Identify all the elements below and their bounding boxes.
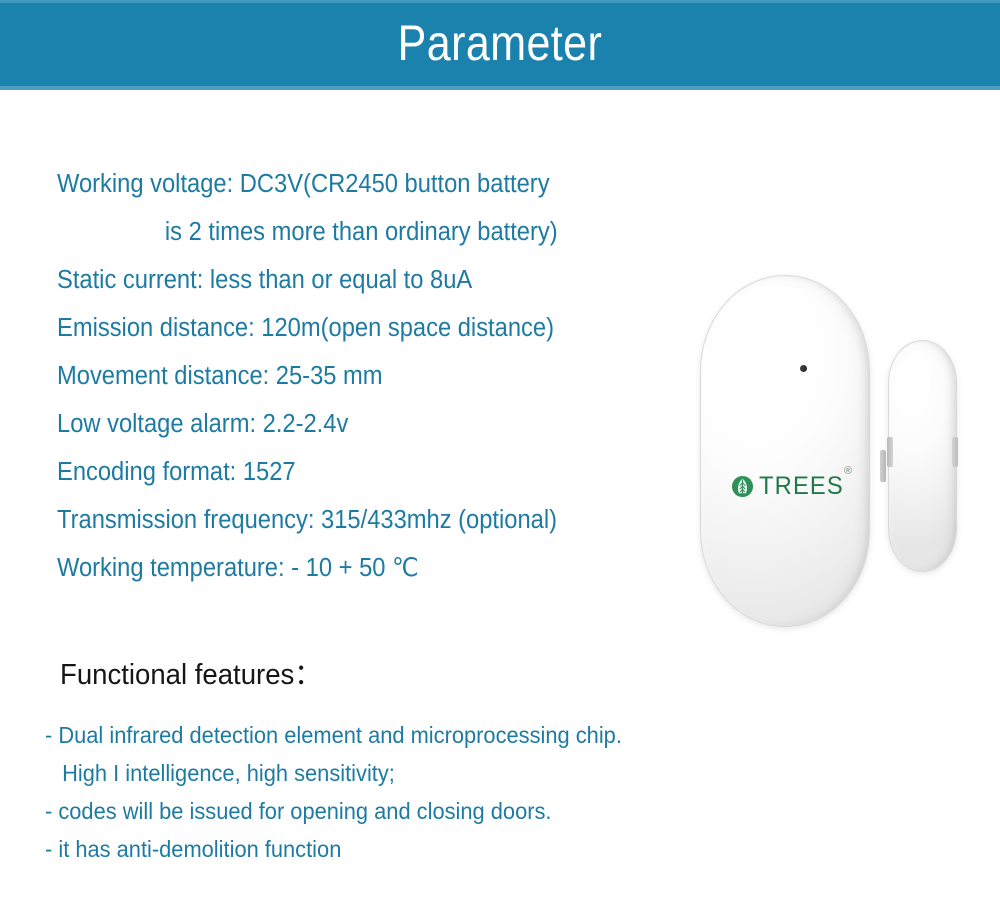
sensor-main-body: TREES ® bbox=[700, 275, 870, 627]
spec-line-working-voltage: Working voltage: DC3V(CR2450 button batt… bbox=[57, 160, 624, 208]
feature-line-dual-infrared: - Dual infrared detection element and mi… bbox=[45, 716, 767, 754]
tree-emblem-icon bbox=[731, 475, 754, 498]
product-image: TREES ® bbox=[686, 262, 986, 642]
brand-name-text: TREES bbox=[759, 474, 844, 499]
spec-line-low-voltage-alarm: Low voltage alarm: 2.2-2.4v bbox=[57, 400, 624, 448]
page-title: Parameter bbox=[398, 18, 603, 68]
feature-line-high-intelligence: High I intelligence, high sensitivity; bbox=[45, 754, 767, 792]
spec-line-transmission-frequency: Transmission frequency: 315/433mhz (opti… bbox=[57, 496, 624, 544]
magnet-side-notch-left bbox=[887, 437, 893, 467]
brand-logo: TREES bbox=[731, 474, 848, 499]
registered-trademark-icon: ® bbox=[844, 466, 852, 477]
spec-line-working-voltage-continued: is 2 times more than ordinary battery) bbox=[57, 208, 624, 256]
page-header-band: Parameter bbox=[0, 0, 1000, 90]
functional-features-list: - Dual infrared detection element and mi… bbox=[45, 716, 805, 868]
spec-line-static-current: Static current: less than or equal to 8u… bbox=[57, 256, 624, 304]
feature-line-anti-demolition: - it has anti-demolition function bbox=[45, 830, 767, 868]
functional-features-heading: Functional features： bbox=[60, 655, 322, 695]
spec-line-emission-distance: Emission distance: 120m(open space dista… bbox=[57, 304, 624, 352]
header-bottom-hairline bbox=[0, 86, 1000, 90]
spec-line-movement-distance: Movement distance: 25-35 mm bbox=[57, 352, 624, 400]
feature-line-codes-issued: - codes will be issued for opening and c… bbox=[45, 792, 767, 830]
spec-line-working-temperature: Working temperature: - 10 + 50 ℃ bbox=[57, 544, 624, 592]
magnet-side-notch-right bbox=[952, 437, 958, 467]
led-indicator-icon bbox=[800, 365, 807, 372]
magnet-piece bbox=[888, 340, 957, 572]
header-top-hairline bbox=[0, 0, 1000, 3]
main-body-side-notch bbox=[880, 450, 886, 482]
specification-list: Working voltage: DC3V(CR2450 button batt… bbox=[57, 160, 667, 592]
spec-line-encoding-format: Encoding format: 1527 bbox=[57, 448, 624, 496]
